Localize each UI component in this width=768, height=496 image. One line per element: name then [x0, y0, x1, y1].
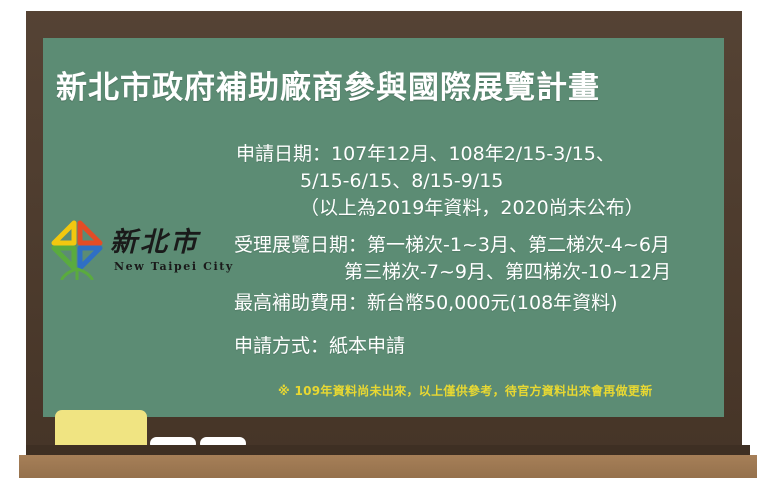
new-taipei-city-logo: 新北市 New Taipei City [48, 218, 244, 280]
acceptance-date-line-2: 第三梯次-7~9月、第四梯次-10~12月 [234, 259, 671, 286]
application-method-line: 申請方式：紙本申請 [234, 333, 405, 360]
page-title: 新北市政府補助廠商參與國際展覽計畫 [56, 62, 600, 107]
chalk-ledge-top-edge [26, 445, 750, 455]
application-date-line-1: 申請日期：107年12月、108年2/15-3/15、 [236, 143, 615, 165]
flower-logo-icon [48, 218, 106, 280]
logo-english-name: New Taipei City [114, 260, 234, 273]
max-subsidy-line: 最高補助費用：新台幣50,000元(108年資料) [234, 290, 618, 317]
chalk-ledge-face [19, 455, 757, 478]
application-date-line-2: 5/15-6/15、8/15-9/15 [236, 168, 644, 195]
logo-chinese-name: 新北市 [110, 220, 200, 259]
footnote-note: ※ 109年資料尚未出來，以上僅供參考，待官方資料出來會再做更新 [278, 382, 653, 399]
acceptance-date-block: 受理展覽日期：第一梯次-1~3月、第二梯次-4~6月 第三梯次-7~9月、第四梯… [234, 232, 671, 286]
chalk-eraser [55, 410, 147, 450]
application-date-line-3: （以上為2019年資料，2020尚未公布） [236, 195, 644, 222]
application-date-block: 申請日期：107年12月、108年2/15-3/15、 5/15-6/15、8/… [236, 141, 644, 222]
chalkboard-poster: 新北市政府補助廠商參與國際展覽計畫 申請日期：107年12月、108年2/15-… [0, 0, 768, 496]
acceptance-date-line-1: 受理展覽日期：第一梯次-1~3月、第二梯次-4~6月 [234, 234, 670, 256]
